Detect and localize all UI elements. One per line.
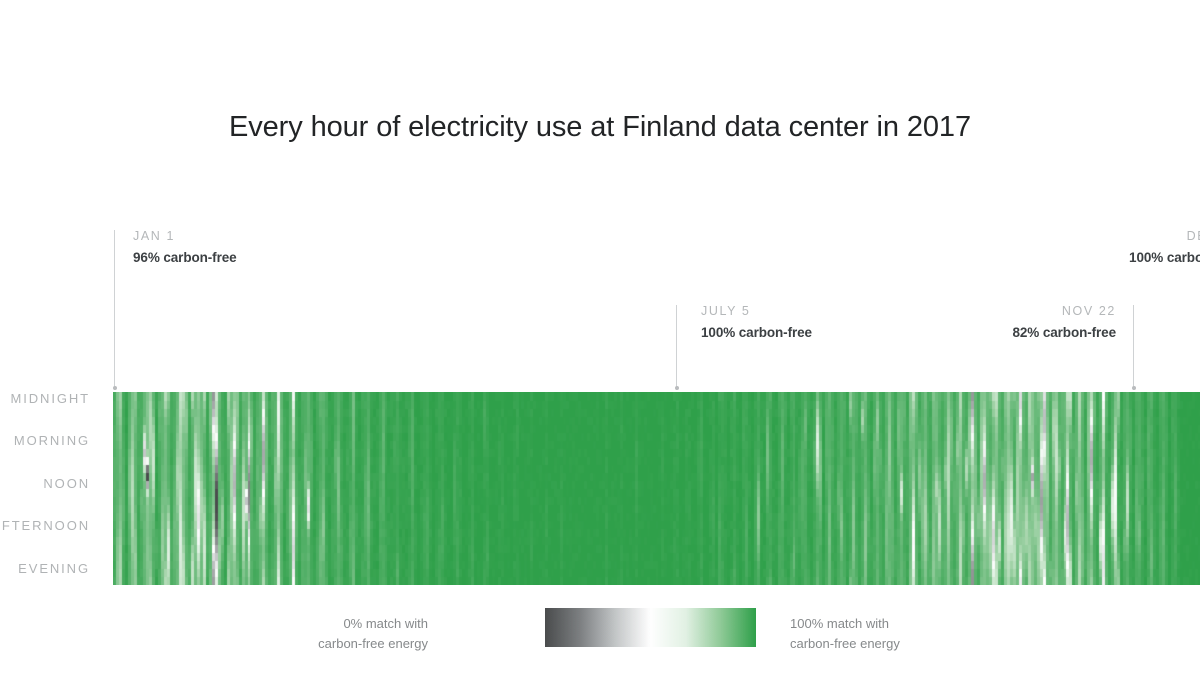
y-axis-label-noon: NOON bbox=[0, 476, 90, 492]
annotation-date: DEC 31 bbox=[930, 228, 1200, 244]
annotation-value: 100% carbon-free bbox=[701, 323, 812, 342]
y-axis-label-midnight: MIDNIGHT bbox=[0, 391, 90, 407]
leader-line-jan-1 bbox=[114, 230, 115, 390]
annotation-date: NOV 22 bbox=[806, 303, 1116, 319]
legend-label-low: 0% match with carbon-free energy bbox=[318, 614, 428, 654]
leader-line-nov-22 bbox=[1133, 305, 1134, 390]
y-axis-label-morning: MORNING bbox=[0, 433, 90, 449]
page-title: Every hour of electricity use at Finland… bbox=[0, 108, 1200, 146]
annotation-date: JULY 5 bbox=[701, 303, 812, 319]
annotation-value: 82% carbon-free bbox=[806, 323, 1116, 342]
heatmap-canvas bbox=[113, 392, 1200, 585]
annotation-value: 100% carbon-free bbox=[930, 248, 1200, 267]
annotation-date: JAN 1 bbox=[133, 228, 237, 244]
y-axis-label-evening: EVENING bbox=[0, 561, 90, 577]
heatmap-plot-area bbox=[113, 392, 1200, 585]
annotation-dec-31: DEC 31 100% carbon-free bbox=[930, 228, 1200, 267]
legend-label-low-line1: 0% match with bbox=[318, 614, 428, 634]
legend-label-low-line2: carbon-free energy bbox=[318, 634, 428, 654]
leader-line-july-5 bbox=[676, 305, 677, 390]
legend: 0% match with carbon-free energy 100% ma… bbox=[0, 608, 1200, 656]
legend-label-high-line2: carbon-free energy bbox=[790, 634, 900, 654]
annotation-july-5: JULY 5 100% carbon-free bbox=[701, 303, 812, 342]
y-axis-label-afternoon: AFTERNOON bbox=[0, 518, 90, 534]
annotation-nov-22: NOV 22 82% carbon-free bbox=[806, 303, 1116, 342]
annotation-value: 96% carbon-free bbox=[133, 248, 237, 267]
legend-label-high-line1: 100% match with bbox=[790, 614, 900, 634]
annotation-jan-1: JAN 1 96% carbon-free bbox=[133, 228, 237, 267]
legend-label-high: 100% match with carbon-free energy bbox=[790, 614, 900, 654]
legend-gradient-bar bbox=[545, 608, 756, 647]
chart-page: Every hour of electricity use at Finland… bbox=[0, 0, 1200, 675]
